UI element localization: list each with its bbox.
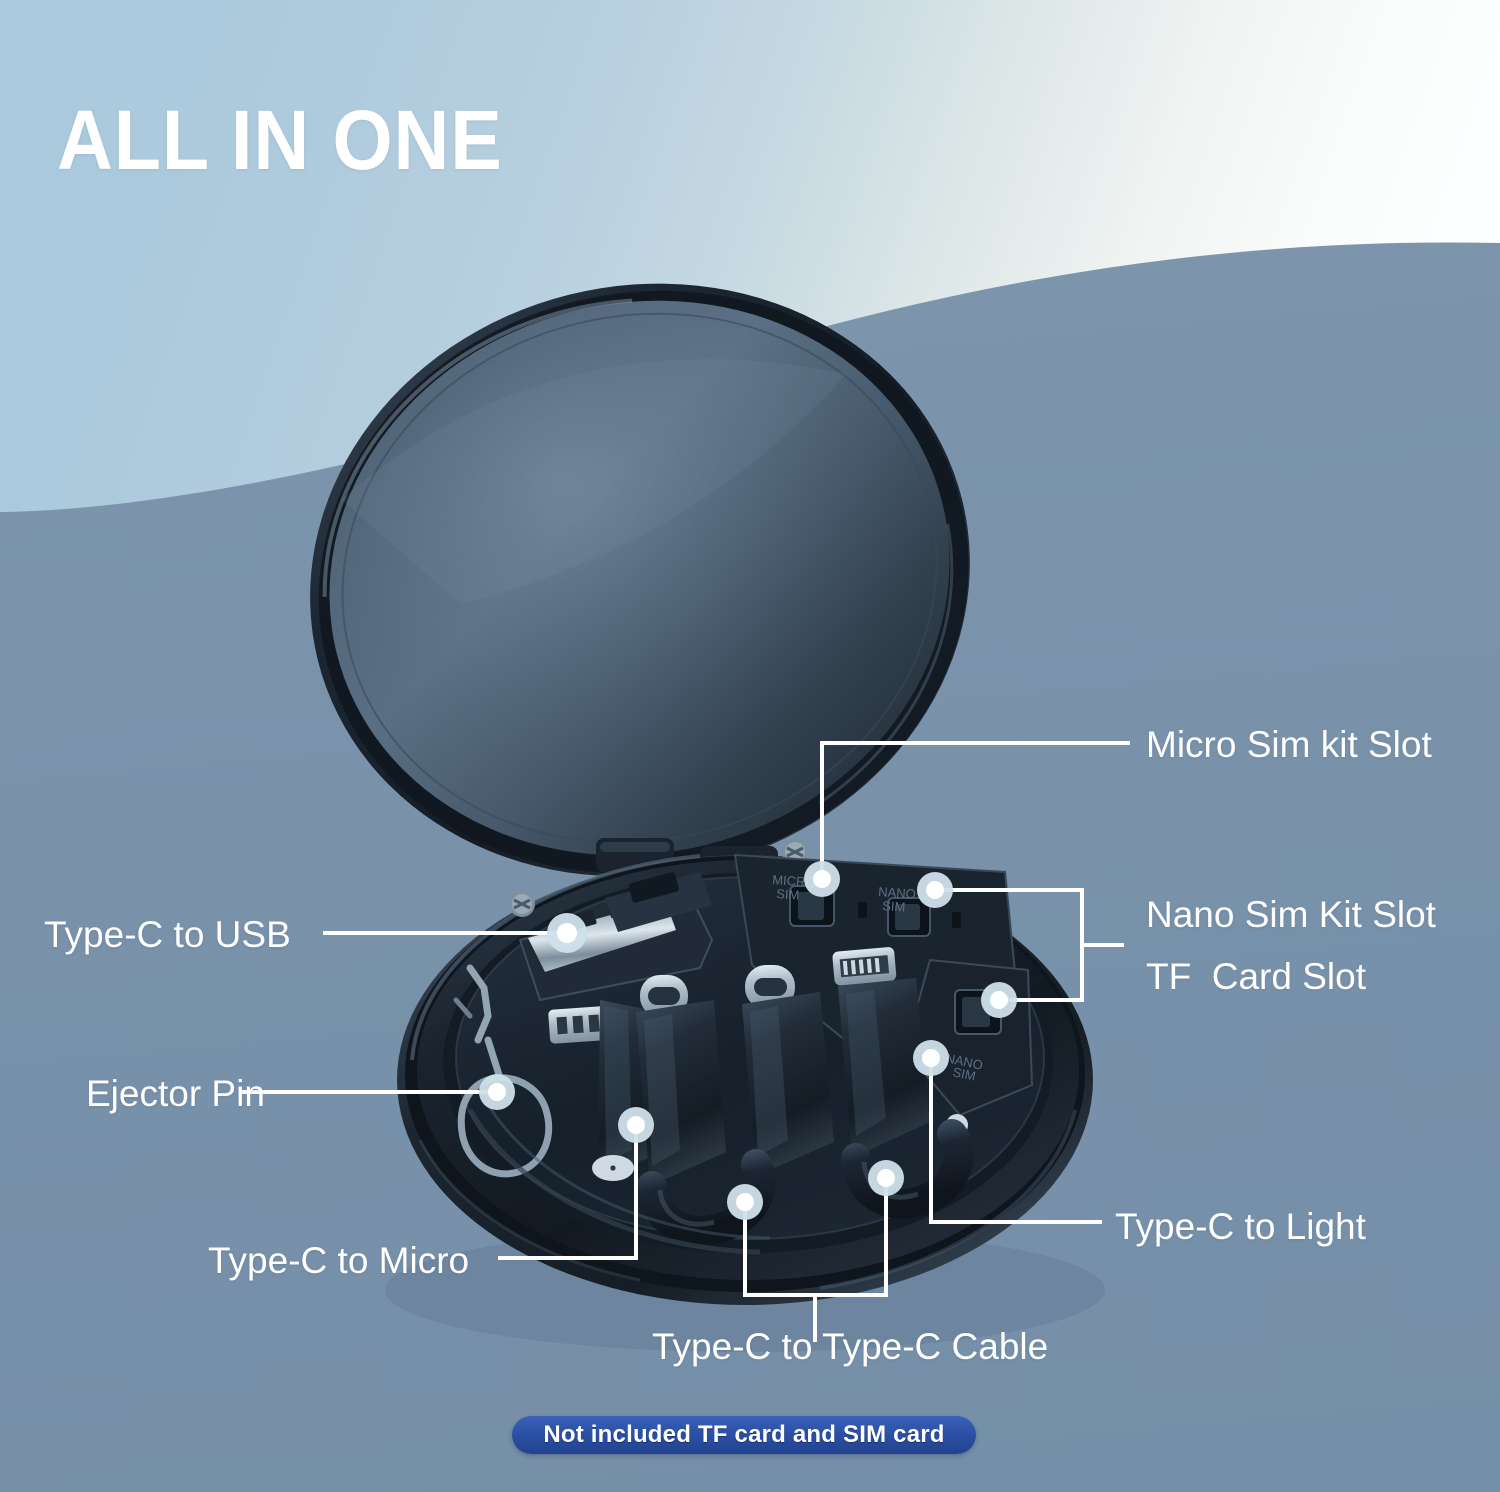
callout-label-nano-sim-kit-slot: Nano Sim Kit Slot — [1146, 893, 1436, 937]
not-included-text: Not included TF card and SIM card — [543, 1421, 944, 1449]
callout-label-ejector-pin: Ejector Pin — [86, 1072, 265, 1116]
not-included-banner: Not included TF card and SIM card — [512, 1416, 976, 1454]
infographic-canvas: ALL IN ONE — [0, 0, 1500, 1492]
callout-label-type-c-to-type-c: Type-C to Type-C Cable — [652, 1325, 1048, 1369]
callout-label-micro-sim-kit-slot: Micro Sim kit Slot — [1146, 723, 1432, 767]
callout-label-type-c-to-micro: Type-C to Micro — [208, 1239, 469, 1283]
callout-label-tf-card-slot: TF Card Slot — [1146, 955, 1366, 999]
callout-label-type-c-to-usb: Type-C to USB — [44, 913, 291, 957]
callout-dots — [479, 861, 1017, 1220]
callout-label-type-c-to-light: Type-C to Light — [1115, 1205, 1366, 1249]
